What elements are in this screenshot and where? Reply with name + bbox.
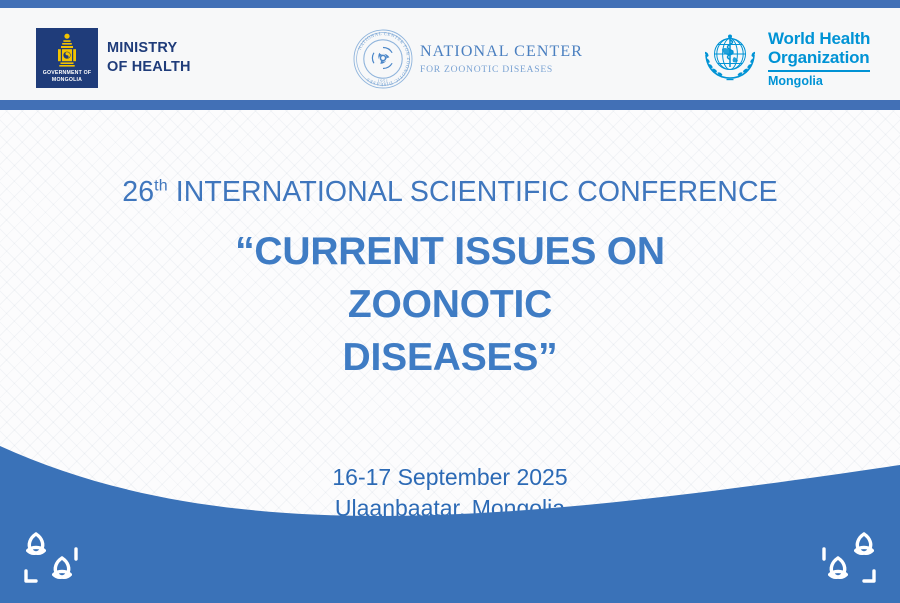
government-of-mongolia-crest: GOVERNMENT OF MONGOLIA — [36, 28, 98, 88]
nczd-name: NATIONAL CENTER — [420, 43, 583, 61]
footer-wave-band — [0, 443, 900, 603]
crest-caption-line2: MONGOLIA — [36, 77, 98, 84]
ministry-label-line2: OF HEALTH — [107, 58, 191, 77]
conference-title-line2: DISEASES” — [130, 331, 770, 384]
header-band: GOVERNMENT OF MONGOLIA MINISTRY OF HEALT… — [0, 8, 900, 100]
top-accent-bar — [0, 0, 900, 8]
conference-ordinal-suffix: th — [154, 178, 168, 195]
ornament-bottom-left — [14, 523, 88, 589]
who-country-label: Mongolia — [768, 74, 870, 88]
national-center-zoonotic-diseases-logo: NATIONAL CENTER FOR ZOONOTIC DISEASES 19… — [352, 28, 583, 90]
nczd-subtitle: FOR ZOONOTIC DISEASES — [420, 64, 583, 75]
conference-line-text: INTERNATIONAL SCIENTIFIC CONFERENCE — [168, 176, 778, 208]
ornament-bottom-right — [812, 523, 886, 589]
who-name-line1: World Health — [768, 29, 870, 48]
who-emblem-icon — [700, 27, 760, 87]
who-name-line2: Organization — [768, 48, 870, 67]
who-underline — [768, 70, 870, 72]
svg-text:1951: 1951 — [378, 79, 389, 84]
crest-caption-line1: GOVERNMENT OF — [36, 70, 98, 77]
ministry-label-line1: MINISTRY — [107, 39, 191, 58]
conference-number: 26 — [122, 176, 154, 208]
conference-title-line1: “CURRENT ISSUES ON ZOONOTIC — [130, 225, 770, 331]
ministry-of-health-logo: GOVERNMENT OF MONGOLIA MINISTRY OF HEALT… — [36, 28, 191, 88]
crest-caption: GOVERNMENT OF MONGOLIA — [36, 70, 98, 84]
nczd-seal-icon: NATIONAL CENTER FOR ZOONOTIC DISEASES 19… — [352, 28, 414, 90]
nczd-wordmark: NATIONAL CENTER FOR ZOONOTIC DISEASES — [420, 43, 583, 74]
conference-ordinal-line: 26th INTERNATIONAL SCIENTIFIC CONFERENCE — [0, 176, 900, 209]
header-divider-bar — [0, 100, 900, 110]
conference-title: “CURRENT ISSUES ON ZOONOTIC DISEASES” — [130, 225, 770, 384]
soyombo-emblem-icon — [36, 32, 98, 70]
ministry-label: MINISTRY OF HEALTH — [107, 39, 191, 77]
conference-title-slide: GOVERNMENT OF MONGOLIA MINISTRY OF HEALT… — [0, 0, 900, 603]
who-logo: World Health Organization Mongolia — [700, 27, 870, 88]
who-wordmark: World Health Organization Mongolia — [768, 27, 870, 88]
